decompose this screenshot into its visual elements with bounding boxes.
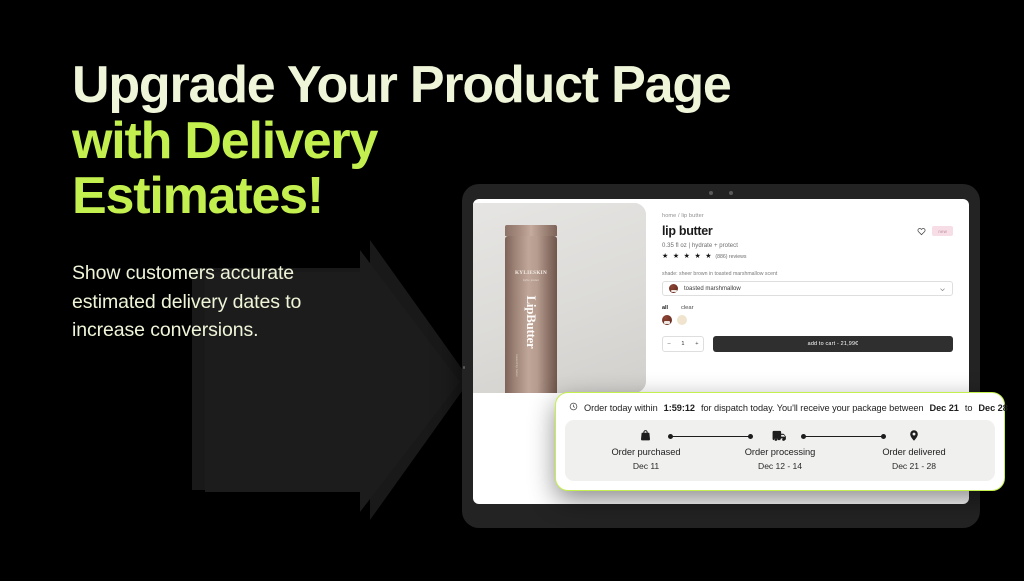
product-title: lip butter xyxy=(662,225,712,238)
tablet-side-button xyxy=(463,366,465,369)
marketing-copy: Upgrade Your Product Page with Delivery … xyxy=(72,58,492,345)
subheading-line-2: estimated delivery dates to xyxy=(72,288,492,317)
camera-dot-icon xyxy=(709,191,713,195)
tablet-camera-dots xyxy=(709,191,733,195)
product-side-text: toasted lip butter xyxy=(515,354,519,377)
gallery-background xyxy=(473,203,646,393)
product-rating: ★ ★ ★ ★ ★ (886) reviews xyxy=(662,253,953,260)
delivery-date-to: Dec 28 xyxy=(978,403,1007,413)
purchase-row: – 1 + add to cart - 21,99€ xyxy=(662,336,953,352)
delivery-date-from: Dec 21 xyxy=(930,403,959,413)
shade-label: shade: sheer brown in toasted marshmallo… xyxy=(662,271,953,277)
swatch-clear[interactable] xyxy=(677,315,687,325)
subheading: Show customers accurate estimated delive… xyxy=(72,259,492,345)
headline-line-2: with Delivery xyxy=(72,114,492,170)
product-name-on-tube: LipButter xyxy=(523,296,539,349)
status-badge: new xyxy=(932,226,953,236)
tube-cap xyxy=(505,225,557,236)
heart-icon[interactable] xyxy=(917,227,926,236)
camera-dot-icon xyxy=(729,191,733,195)
delivery-estimate-message: Order today within 1:59:12 for dispatch … xyxy=(565,401,995,420)
message-pre: Order today within xyxy=(584,403,658,413)
timeline-step-label: Order purchased xyxy=(611,447,680,457)
star-rating-icon: ★ ★ ★ ★ ★ xyxy=(662,253,713,260)
quantity-value: 1 xyxy=(681,341,684,347)
selected-shade-swatch xyxy=(669,284,678,293)
clock-icon xyxy=(569,402,578,413)
shade-select[interactable]: toasted marshmallow xyxy=(662,281,953,296)
quantity-stepper[interactable]: – 1 + xyxy=(662,336,704,352)
timeline-connector xyxy=(669,436,751,437)
page-title: Upgrade Your Product Page with Delivery … xyxy=(72,58,492,225)
delivery-timeline: Order purchased Dec 11 Order processing … xyxy=(565,420,995,481)
shopping-bag-icon xyxy=(639,429,652,442)
headline-line-1: Upgrade Your Product Page xyxy=(72,58,492,114)
timeline-step-label: Order processing xyxy=(745,447,816,457)
product-brand: KYLIESKIN xyxy=(505,270,557,276)
timeline-step-label: Order delivered xyxy=(882,447,945,457)
selected-shade-label: toasted marshmallow xyxy=(684,286,933,292)
add-to-cart-button[interactable]: add to cart - 21,99€ xyxy=(713,336,953,352)
shade-swatches xyxy=(662,315,953,325)
product-title-actions: new xyxy=(917,226,953,236)
timeline-steps: Order purchased Dec 11 Order processing … xyxy=(579,429,981,471)
tab-clear[interactable]: clear xyxy=(681,305,694,311)
shade-filter-tabs: all clear xyxy=(662,305,953,311)
product-subtitle: 0.35 fl oz | hydrate + protect xyxy=(662,243,953,249)
message-mid: for dispatch today. You'll receive your … xyxy=(701,403,924,413)
tab-all[interactable]: all xyxy=(662,305,668,311)
timeline-step-date: Dec 11 xyxy=(633,461,659,471)
review-count[interactable]: (886) reviews xyxy=(715,254,746,260)
product-image-lip-butter: KYLIESKIN kylie jenner LipButter toasted… xyxy=(503,225,559,393)
product-gallery[interactable]: KYLIESKIN kylie jenner LipButter toasted… xyxy=(473,203,646,393)
swatch-toasted-marshmallow[interactable] xyxy=(662,315,672,325)
message-join: to xyxy=(965,403,973,413)
timeline-connector xyxy=(802,436,884,437)
quantity-increment-button[interactable]: + xyxy=(695,341,698,347)
product-brand-sub: kylie jenner xyxy=(505,278,557,282)
timeline-step-date: Dec 21 - 28 xyxy=(892,461,936,471)
breadcrumb[interactable]: home / lip butter xyxy=(662,213,953,219)
map-pin-icon xyxy=(908,429,920,442)
chevron-down-icon[interactable] xyxy=(939,280,946,298)
timeline-step-date: Dec 12 - 14 xyxy=(758,461,802,471)
headline-line-3: Estimates! xyxy=(72,169,492,225)
delivery-estimate-card: Order today within 1:59:12 for dispatch … xyxy=(555,392,1005,491)
countdown-timer: 1:59:12 xyxy=(664,403,695,413)
product-title-row: lip butter new xyxy=(662,225,953,238)
quantity-decrement-button[interactable]: – xyxy=(668,341,671,347)
subheading-line-1: Show customers accurate xyxy=(72,259,492,288)
subheading-line-3: increase conversions. xyxy=(72,316,492,345)
tube-body: KYLIESKIN kylie jenner LipButter toasted… xyxy=(505,236,557,393)
delivery-truck-icon xyxy=(772,429,788,442)
